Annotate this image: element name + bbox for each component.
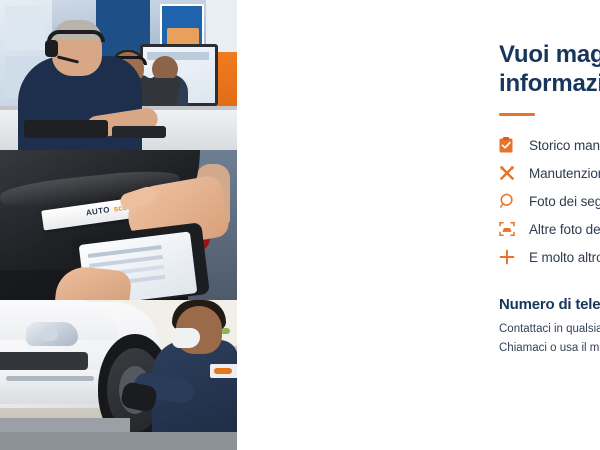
- feature-list: Storico manutentivo Manutenzioni effettu…: [499, 131, 600, 271]
- clipboard-check-icon: [499, 137, 529, 153]
- magnifier-icon: [499, 193, 529, 209]
- page-title-line-2: informazioni su ?: [499, 69, 600, 98]
- technician-applying-label-photo: [0, 150, 237, 300]
- feature-item-storico-manutentivo: Storico manutentivo: [499, 131, 600, 159]
- page-title-line-1: Vuoi maggiori: [499, 40, 600, 69]
- page-title: Vuoi maggiori informazioni su ?: [499, 40, 600, 99]
- mechanic-wheel-service-photo: [0, 300, 237, 450]
- contact-subtext: Contattaci in qualsiasi momento per ulte…: [499, 320, 600, 357]
- promo-banner: Vuoi maggiori informazioni su ? Saremo f…: [0, 0, 600, 450]
- feature-item-manutenzioni-effettuate: Manutenzioni effettuate: [499, 159, 600, 187]
- contact-subtext-line-1: Contattaci in qualsiasi momento per ulte…: [499, 320, 600, 339]
- title-underline-divider: [499, 113, 535, 116]
- feature-label: E molto altro ancora: [529, 250, 600, 265]
- call-center-agents-photo: [0, 0, 237, 150]
- feature-label: Manutenzioni effettuate: [529, 166, 600, 181]
- phone-number-line: Numero di telefono: +390238583852: [499, 296, 600, 313]
- crossed-tools-icon: [499, 165, 529, 181]
- feature-item-molto-altro: E molto altro ancora: [499, 243, 600, 271]
- feature-label: Foto dei segni di usura: [529, 194, 600, 209]
- plus-icon: [499, 249, 529, 265]
- content-panel: Vuoi maggiori informazioni su ? Saremo f…: [237, 0, 600, 450]
- feature-item-foto-segni-usura: Foto dei segni di usura: [499, 187, 600, 215]
- photo-column: [0, 0, 237, 450]
- feature-item-altre-foto-veicolo: Altre foto del veicolo: [499, 215, 600, 243]
- scan-car-icon: [499, 221, 529, 237]
- feature-label: Altre foto del veicolo: [529, 222, 600, 237]
- contact-subtext-line-2: Chiamaci o usa il modulo di contatto.: [499, 339, 600, 358]
- feature-label: Storico manutentivo: [529, 138, 600, 153]
